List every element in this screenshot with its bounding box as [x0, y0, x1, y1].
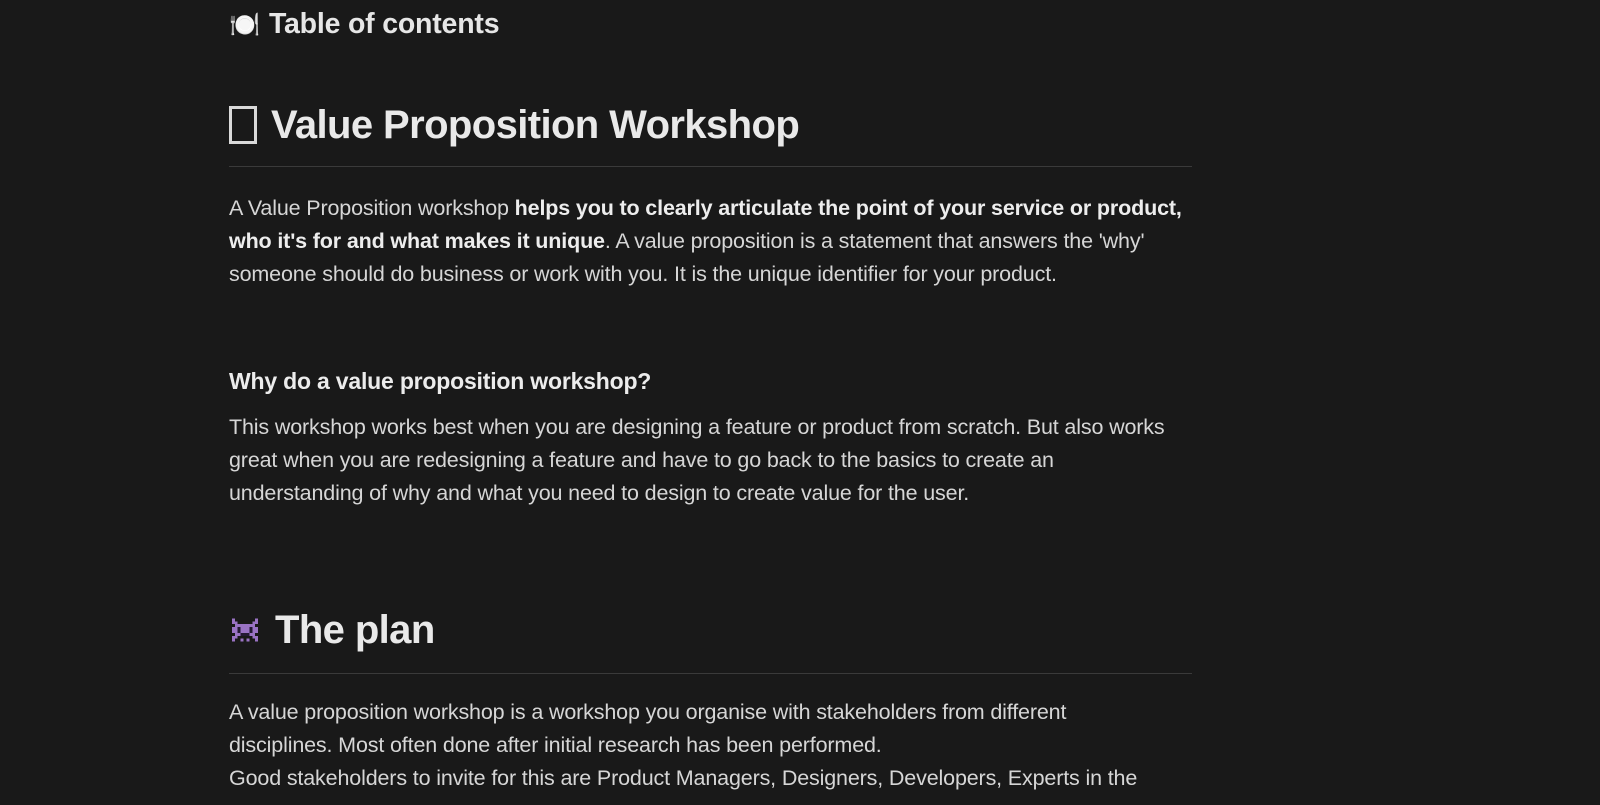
section-divider-the-plan	[229, 673, 1192, 674]
the-plan-paragraph-2: Good stakeholders to invite for this are…	[229, 762, 1189, 795]
intro-lead: A Value Proposition workshop	[229, 196, 515, 220]
section-title-value-proposition-workshop: Value Proposition Workshop	[271, 103, 799, 147]
table-of-contents-heading[interactable]: 🍽️ Table of contents	[229, 0, 499, 50]
fork-knife-plate-icon: 🍽️	[229, 13, 260, 38]
section-heading-value-proposition-workshop: Value Proposition Workshop	[229, 103, 799, 147]
intro-paragraph: A Value Proposition workshop helps you t…	[229, 192, 1189, 291]
section-title-the-plan: The plan	[275, 608, 435, 652]
the-plan-paragraph-1: A value proposition workshop is a worksh…	[229, 696, 1109, 762]
alien-monster-icon	[229, 614, 261, 646]
section-divider-value-proposition-workshop	[229, 166, 1192, 167]
table-of-contents-label: Table of contents	[269, 0, 499, 50]
subsection-heading-why-do-a-value-proposition-workshop: Why do a value proposition workshop?	[229, 368, 651, 396]
missing-glyph-box-icon	[229, 106, 257, 144]
section-heading-the-plan: The plan	[229, 608, 435, 652]
subsection-paragraph-why: This workshop works best when you are de…	[229, 411, 1189, 510]
document-canvas: 🍽️ Table of contents Value Proposition W…	[0, 0, 1600, 805]
